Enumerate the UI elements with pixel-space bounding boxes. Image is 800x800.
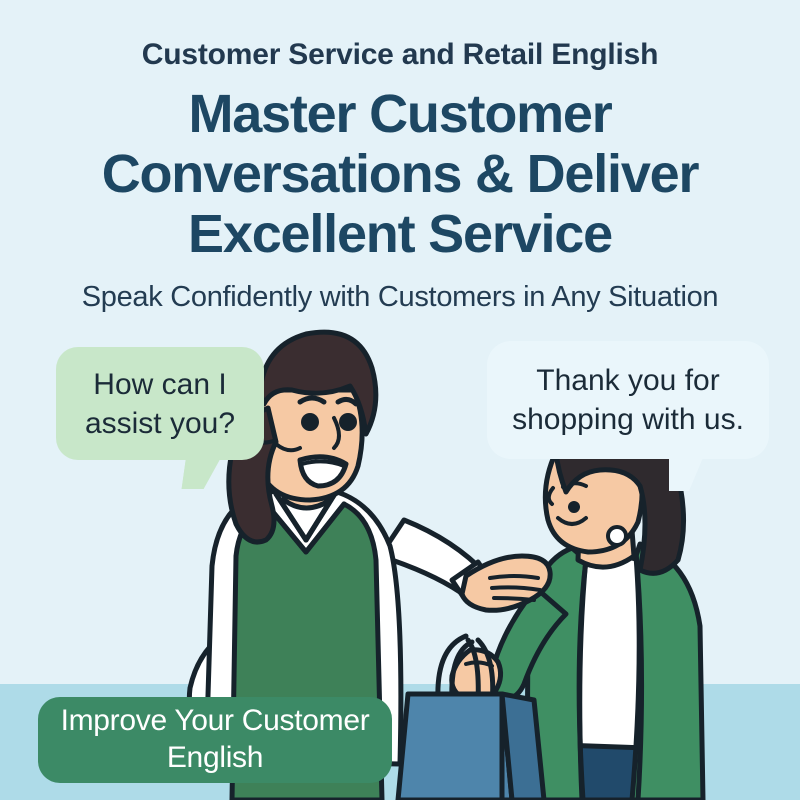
cta-label: Improve Your Customer English: [52, 703, 378, 776]
improve-english-cta-button[interactable]: Improve Your Customer English: [38, 697, 392, 783]
speech-bubble-staff: How can I assist you?: [56, 347, 264, 460]
speech-bubble-customer-text: Thank you for shopping with us.: [500, 361, 756, 439]
speech-bubble-staff-tail: [182, 455, 223, 489]
staff-eye-right: [339, 413, 357, 431]
speech-bubble-customer-tail: [669, 453, 705, 491]
poster-canvas: Customer Service and Retail English Mast…: [0, 0, 800, 800]
speech-bubble-customer: Thank you for shopping with us.: [487, 341, 769, 459]
staff-eye-left: [301, 413, 319, 431]
speech-bubble-staff-text: How can I assist you?: [73, 365, 247, 443]
customer-eye: [568, 501, 580, 513]
